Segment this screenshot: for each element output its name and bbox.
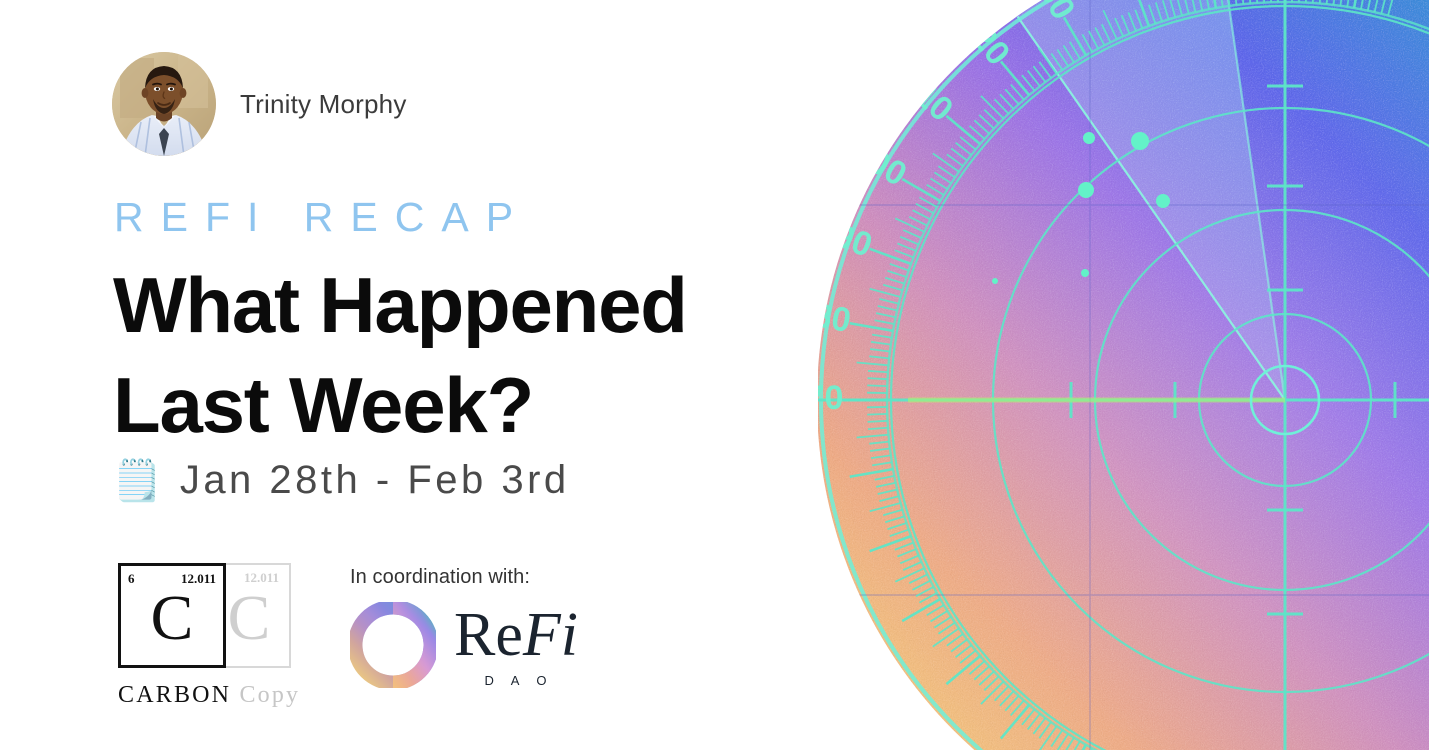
radar-blip-1 xyxy=(1131,132,1149,150)
coordination-label: In coordination with: xyxy=(350,566,578,589)
radar-graphic: 270280290300310320330340350 xyxy=(818,0,1429,750)
headline-line-2: Last Week? xyxy=(113,356,687,456)
radar-major-ticks xyxy=(843,0,1362,750)
wordmark-carbon: CARBON xyxy=(118,682,231,708)
carbon-copy-element-boxes: 12.011 C 6 12.011 C xyxy=(118,563,293,668)
refi-dao-logo[interactable]: ReFi D A O xyxy=(350,602,578,688)
refi-ring-icon xyxy=(350,602,436,688)
bearing-label-290: 290 xyxy=(818,210,877,265)
calendar-icon: 🗒️ xyxy=(112,461,162,501)
byline: Trinity Morphy xyxy=(112,52,407,156)
refi-word-italic: Fi xyxy=(523,601,578,669)
refi-wordmark: ReFi D A O xyxy=(454,604,578,687)
date-range: 🗒️ Jan 28th - Feb 3rd xyxy=(112,458,570,503)
headline-line-1: What Happened xyxy=(113,256,687,356)
radar-blip-4 xyxy=(1081,269,1089,277)
radar-blips xyxy=(992,132,1170,284)
radar-center-marker xyxy=(1251,366,1319,434)
bearing-label-320: 320 xyxy=(952,5,1018,73)
bearing-label-310: 310 xyxy=(892,64,960,130)
refi-dao-sublabel: D A O xyxy=(454,674,578,687)
bearing-label-280: 280 xyxy=(818,293,854,340)
author-name: Trinity Morphy xyxy=(240,89,407,120)
radar-svg: 270280290300310320330340350 xyxy=(818,0,1429,750)
refi-word-upright: Re xyxy=(454,601,523,669)
banner-canvas: 270280290300310320330340350 xyxy=(0,0,1429,750)
avatar xyxy=(112,52,216,156)
radar-faint-grid xyxy=(818,0,1429,750)
radar-crosshair-ticks xyxy=(1071,86,1429,614)
element-symbol: C xyxy=(121,585,223,649)
radar-blip-3 xyxy=(1156,194,1170,208)
radar-crosshairs xyxy=(818,0,1429,750)
bearing-label-300: 300 xyxy=(845,133,913,194)
carbon-copy-front-box: 6 12.011 C xyxy=(118,563,226,668)
radar-range-rings xyxy=(891,6,1429,750)
bearing-label-270: 270 xyxy=(818,379,843,417)
radar-blip-5 xyxy=(992,278,998,284)
radar-bearing-labels: 270280290300310320330340350 xyxy=(818,0,1229,417)
bearing-label-330: 330 xyxy=(1021,0,1082,26)
refi-word: ReFi xyxy=(454,604,578,666)
wordmark-copy: Copy xyxy=(239,682,300,708)
avatar-photo-illustration xyxy=(112,52,216,156)
radar-scale-inner-ring xyxy=(887,2,1429,750)
page-title: What Happened Last Week? xyxy=(113,256,687,456)
radar-blip-0 xyxy=(1083,132,1095,144)
carbon-copy-logo[interactable]: 12.011 C 6 12.011 C CARBON Copy xyxy=(118,563,293,709)
radar-sweep-wedge xyxy=(1018,0,1286,400)
radar-disc xyxy=(818,0,1429,750)
radar-minor-ticks xyxy=(857,0,1397,750)
date-range-text: Jan 28th - Feb 3rd xyxy=(180,458,570,503)
radar-bezel-ring xyxy=(821,0,1429,750)
eyebrow-label: REFI RECAP xyxy=(114,194,530,241)
radar-blip-2 xyxy=(1078,182,1094,198)
partner-block: In coordination with: xyxy=(350,566,578,688)
carbon-copy-wordmark: CARBON Copy xyxy=(118,682,293,709)
